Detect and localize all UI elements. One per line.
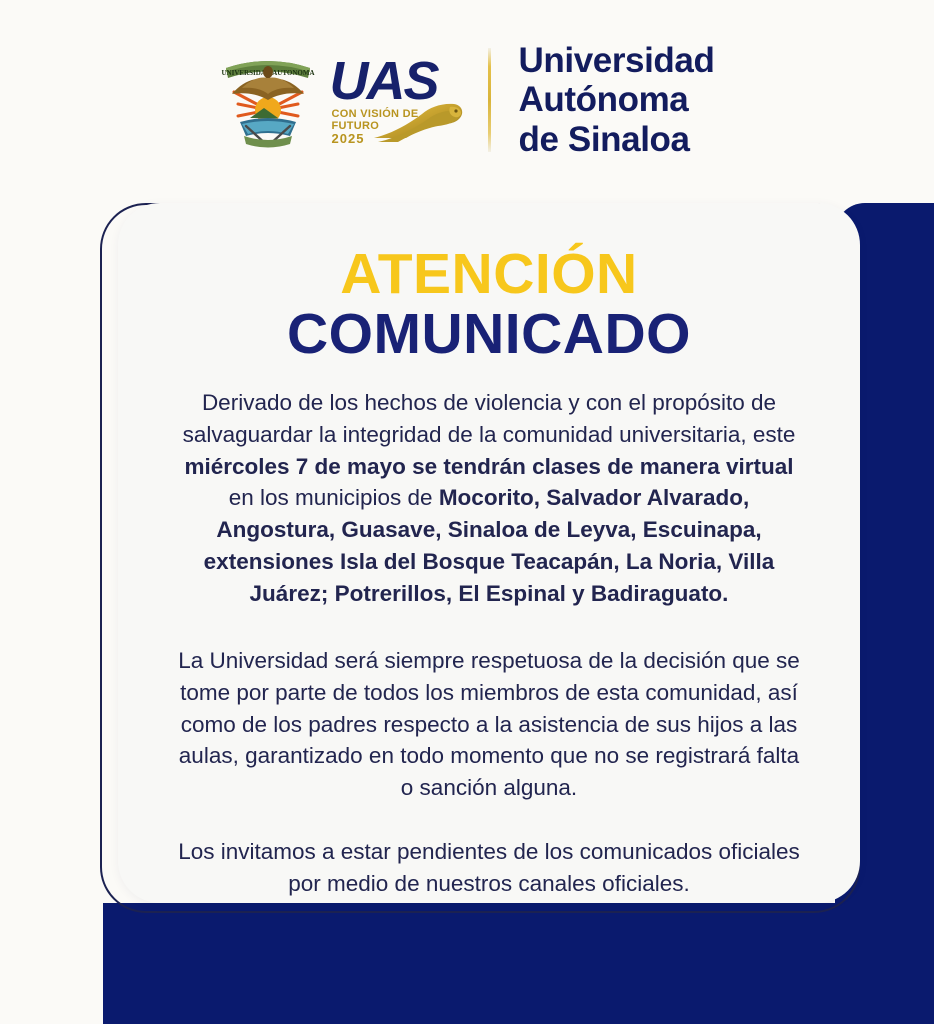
paragraph-official-channels: Los invitamos a estar pendientes de los …: [162, 836, 816, 899]
paragraph-respect: La Universidad será siempre respetuosa d…: [162, 645, 816, 804]
uas-wordmark: UAS CON VISIÓN DE FUTURO 2025: [330, 54, 462, 146]
paragraph-1-part-a: Derivado de los hechos de violencia y co…: [183, 390, 796, 447]
uas-tagline-year: 2025: [332, 132, 419, 146]
paragraph-1-part-c: en los municipios de: [229, 485, 439, 510]
uas-tagline-line1: CON VISIÓN DE: [332, 109, 419, 121]
brand-header: UNIVERSIDAD AUTONOMA: [0, 0, 934, 200]
header-divider: [488, 48, 491, 152]
paragraph-1-bold-date: miércoles 7 de mayo se tendrán clases de…: [184, 454, 793, 479]
title-comunicado: COMUNICADO: [162, 305, 816, 363]
uas-tagline: CON VISIÓN DE FUTURO 2025: [332, 109, 419, 146]
announcement-card: ATENCIÓN COMUNICADO Derivado de los hech…: [118, 203, 860, 903]
institution-name: Universidad Autónoma de Sinaloa: [519, 41, 715, 160]
communique-poster: UNIVERSIDAD AUTONOMA: [0, 0, 934, 1024]
paragraph-virtual-classes: Derivado de los hechos de violencia y co…: [162, 387, 816, 609]
navy-accent-bottom: [103, 903, 934, 1024]
uas-letters: UAS: [330, 54, 438, 108]
title-atencion: ATENCIÓN: [162, 245, 816, 303]
university-crest-icon: UNIVERSIDAD AUTONOMA: [220, 48, 316, 152]
